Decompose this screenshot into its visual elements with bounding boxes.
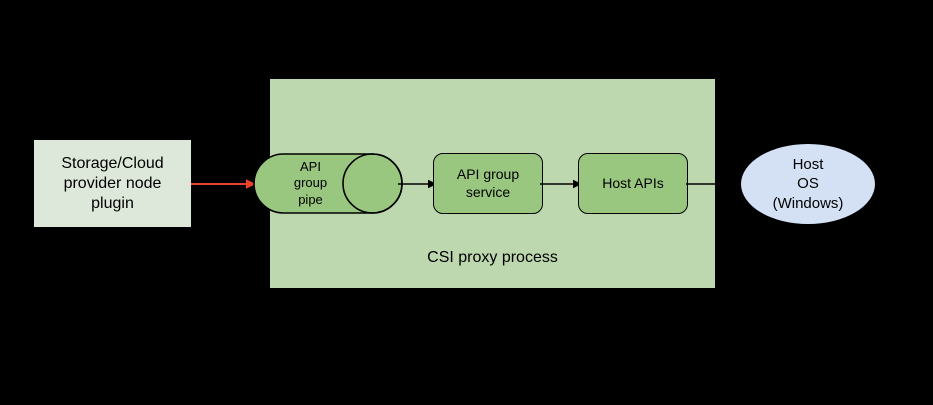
- edge-host-apis-to-boundary: [686, 170, 722, 198]
- edge-plugin-to-pipe: [190, 170, 260, 198]
- diagram-canvas: CSI proxy process Storage/Cloud provider…: [0, 0, 933, 405]
- api-group-pipe-cylinder: [253, 153, 403, 214]
- api-group-service-box: [433, 153, 543, 214]
- storage-cloud-provider-node-plugin-box: [33, 139, 192, 228]
- host-os-ellipse: [740, 143, 876, 225]
- host-apis-box: [578, 153, 688, 214]
